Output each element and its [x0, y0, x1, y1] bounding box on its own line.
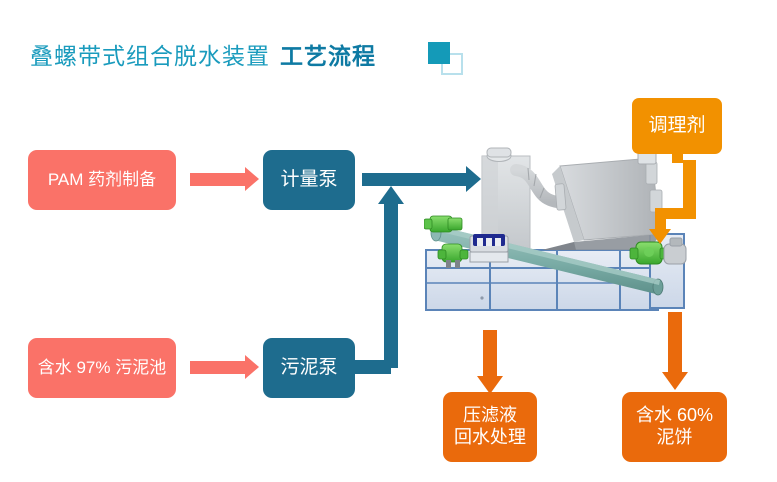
arrow-metering-pump-to-machine: [362, 173, 467, 186]
node-conditioner[interactable]: 调理剂: [632, 98, 722, 154]
filtrate-line1: 压滤液: [463, 405, 517, 425]
node-pam-preparation[interactable]: PAM 药剂制备: [28, 150, 176, 210]
square-filled-shape: [428, 42, 450, 64]
node-sludge-pool[interactable]: 含水 97% 污泥池: [28, 338, 176, 398]
filtrate-line2: 回水处理: [454, 427, 526, 447]
control-box-blue: [470, 234, 508, 262]
title-accent-text: 工艺流程: [280, 37, 376, 71]
node-metering-pump[interactable]: 计量泵: [263, 150, 355, 210]
conditioner-callout-stem: [672, 154, 683, 163]
arrow-pam-to-metering-pump: [190, 173, 246, 186]
page-title: 叠螺带式组合脱水装置 工艺流程: [30, 37, 376, 71]
node-sludge-cake[interactable]: 含水 60% 泥饼: [622, 392, 727, 462]
valve-green-left: [424, 216, 462, 232]
node-filtrate-return[interactable]: 压滤液 回水处理: [443, 392, 537, 462]
cake-line1: 含水 60%: [636, 405, 713, 425]
title-main-text: 叠螺带式组合脱水装置: [30, 37, 270, 71]
node-sludge-pump[interactable]: 污泥泵: [263, 338, 355, 398]
arrow-pool-to-sludge-pump: [190, 361, 246, 374]
cake-line2: 泥饼: [657, 427, 693, 447]
overlapping-squares-icon: [428, 42, 468, 76]
diagram-canvas: 叠螺带式组合脱水装置 工艺流程: [0, 0, 777, 482]
